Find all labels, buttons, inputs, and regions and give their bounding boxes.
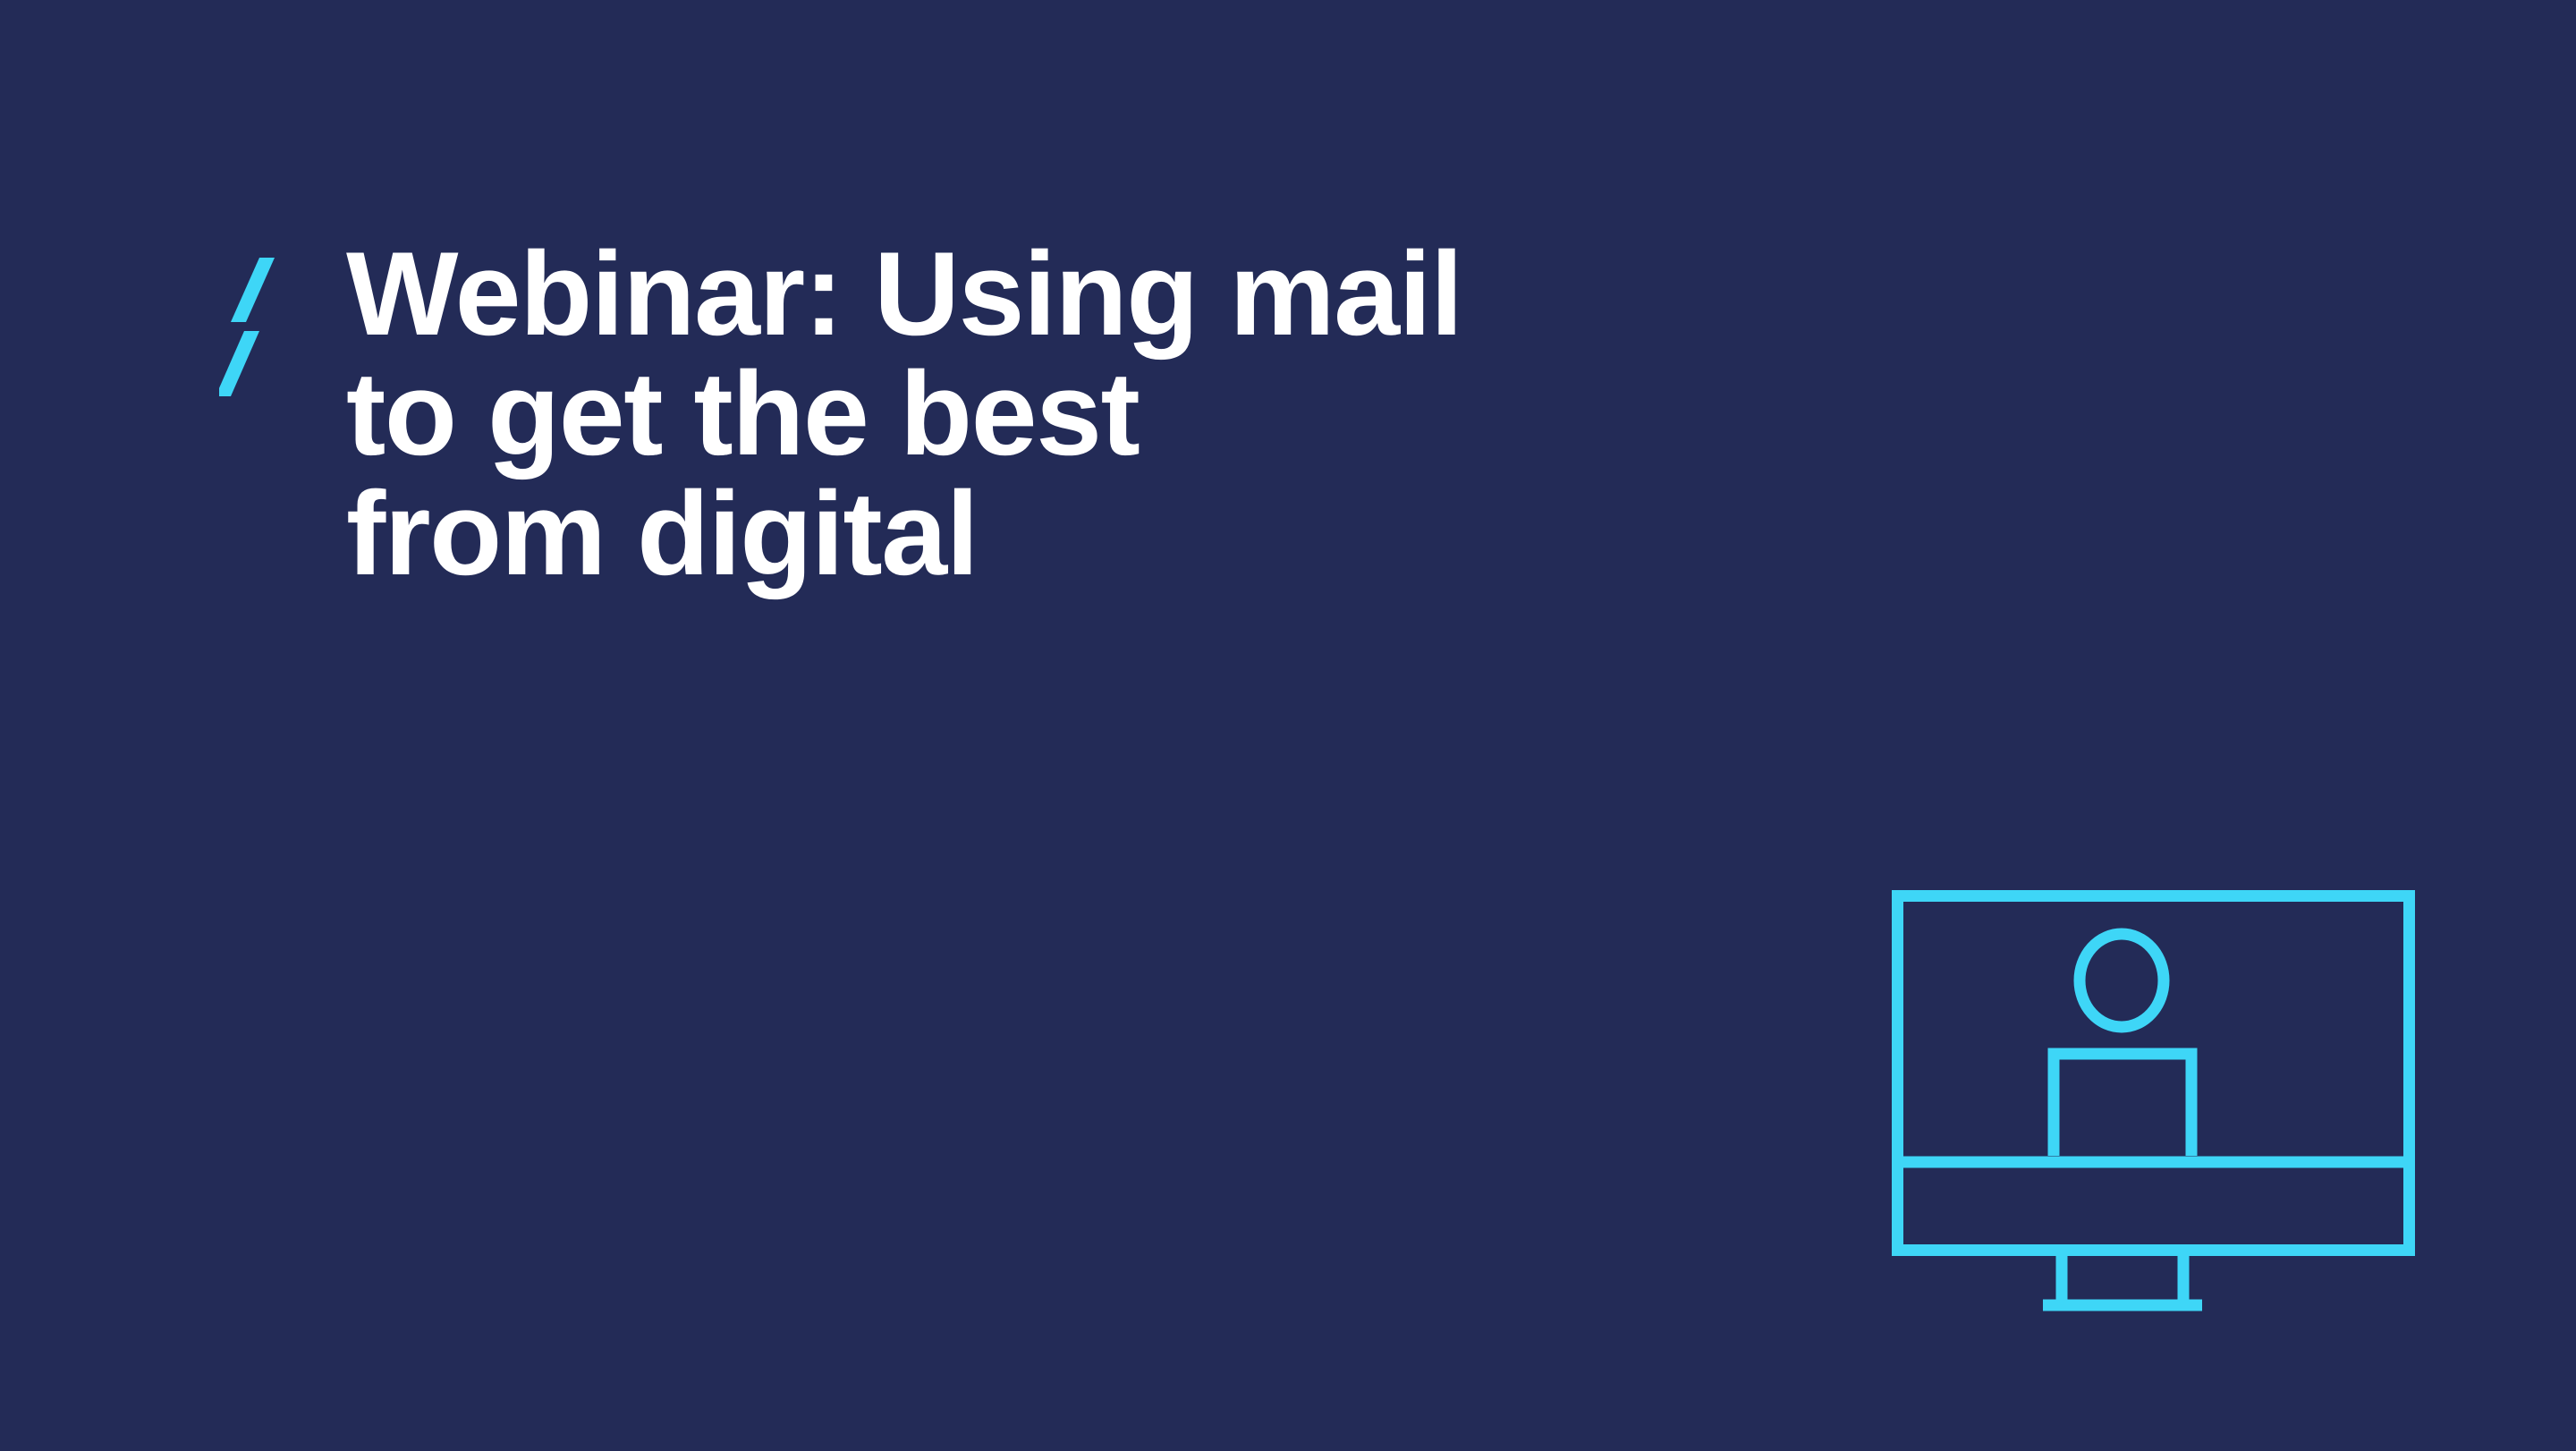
slide-canvas: Webinar: Using mail to get the best from… — [0, 0, 2576, 1451]
headline-line-2: to get the best — [346, 354, 1992, 474]
headline-line-3: from digital — [346, 474, 1992, 594]
presenter-on-monitor-icon — [1878, 877, 2424, 1335]
headline-line-1: Webinar: Using mail — [346, 234, 1992, 354]
page-title: Webinar: Using mail to get the best from… — [346, 234, 1992, 594]
presenter-shoulders-path — [2054, 1054, 2191, 1156]
slash-accent-icon — [219, 258, 291, 396]
presenter-head-ellipse — [2080, 934, 2164, 1027]
